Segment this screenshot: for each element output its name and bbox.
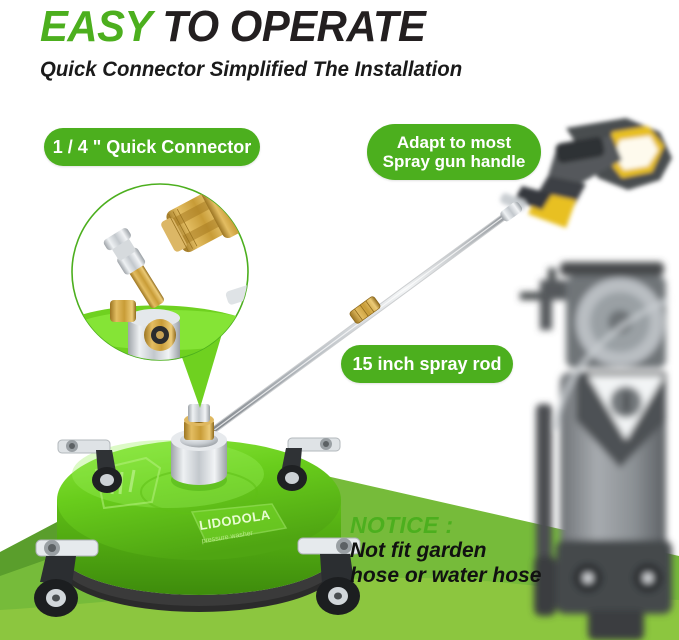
notice-line-2: hose or water hose: [350, 564, 541, 589]
callout-spray-gun-line2: Spray gun handle: [383, 152, 526, 171]
product-infographic: LIDODOLA pressure washer: [0, 0, 679, 640]
callout-spray-gun-line1: Adapt to most: [397, 133, 511, 152]
callout-spray-rod: 15 inch spray rod: [341, 345, 513, 383]
background-swoosh-group: [0, 0, 679, 640]
callout-spray-gun-text: Adapt to most Spray gun handle: [383, 133, 526, 171]
notice-line-1: Not fit garden: [350, 539, 541, 564]
callout-spray-gun: Adapt to most Spray gun handle: [367, 124, 541, 180]
title-black-part: TO OPERATE: [162, 2, 425, 51]
page-subtitle: Quick Connector Simplified The Installat…: [40, 58, 462, 82]
callout-quick-connector: 1 / 4 " Quick Connector: [44, 128, 260, 166]
notice-heading: NOTICE :: [350, 512, 541, 539]
title-green-part: EASY: [40, 2, 151, 51]
callout-quick-connector-label: 1 / 4 " Quick Connector: [53, 137, 252, 157]
notice-block: NOTICE : Not fit garden hose or water ho…: [350, 512, 541, 589]
callout-spray-rod-label: 15 inch spray rod: [352, 354, 501, 374]
page-title: EASY TO OPERATE: [40, 2, 425, 52]
